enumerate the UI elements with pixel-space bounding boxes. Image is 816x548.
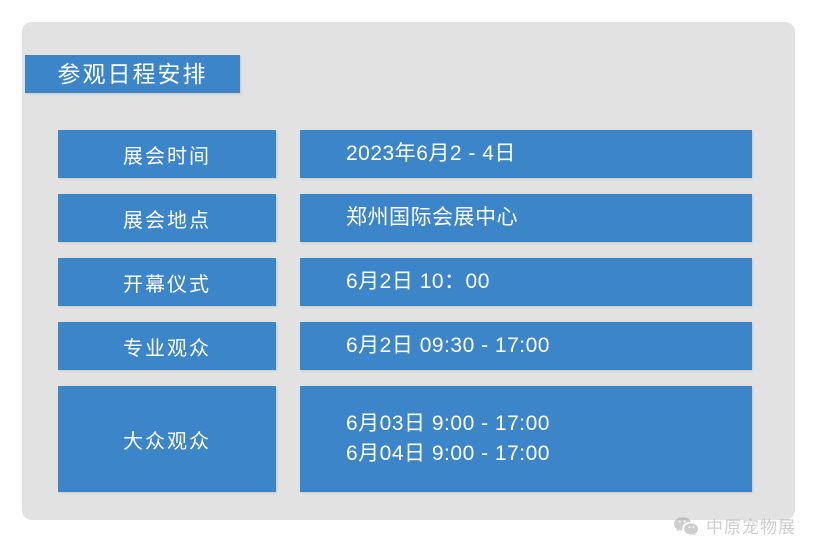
row-value-cell: 2023年6月2 - 4日	[300, 130, 752, 178]
row-value-cell: 6月2日 10：00	[300, 258, 752, 306]
row-value-cell: 6月2日 09:30 - 17:00	[300, 322, 752, 370]
table-row: 专业观众 6月2日 09:30 - 17:00	[58, 322, 752, 370]
row-value-cell: 郑州国际会展中心	[300, 194, 752, 242]
table-row: 开幕仪式 6月2日 10：00	[58, 258, 752, 306]
schedule-table: 展会时间 2023年6月2 - 4日 展会地点 郑州国际会展中心 开幕仪式 6月…	[58, 130, 752, 492]
value-line: 郑州国际会展中心	[346, 203, 518, 233]
value-lines: 郑州国际会展中心	[346, 203, 518, 233]
row-label-cell: 专业观众	[58, 322, 276, 370]
value-line: 2023年6月2 - 4日	[346, 139, 516, 169]
value-line: 6月2日 10：00	[346, 267, 490, 297]
value-line: 6月2日 09:30 - 17:00	[346, 331, 550, 361]
slide-canvas: 参观日程安排 展会时间 2023年6月2 - 4日 展会地点 郑州国际会展中心 …	[0, 0, 816, 548]
row-label-cell: 展会时间	[58, 130, 276, 178]
footer-watermark: 中原宠物展	[673, 513, 796, 538]
value-lines: 6月2日 10：00	[346, 267, 490, 297]
table-row: 大众观众 6月03日 9:00 - 17:00 6月04日 9:00 - 17:…	[58, 386, 752, 492]
value-line: 6月03日 9:00 - 17:00	[346, 409, 550, 439]
page-title: 参观日程安排	[25, 55, 240, 93]
row-label-cell: 展会地点	[58, 194, 276, 242]
wechat-icon	[673, 516, 699, 536]
value-lines: 6月2日 09:30 - 17:00	[346, 331, 550, 361]
watermark-text: 中原宠物展	[706, 513, 796, 538]
row-label-cell: 大众观众	[58, 386, 276, 492]
row-label-cell: 开幕仪式	[58, 258, 276, 306]
row-value-cell: 6月03日 9:00 - 17:00 6月04日 9:00 - 17:00	[300, 386, 752, 492]
value-line: 6月04日 9:00 - 17:00	[346, 439, 550, 469]
table-row: 展会时间 2023年6月2 - 4日	[58, 130, 752, 178]
table-row: 展会地点 郑州国际会展中心	[58, 194, 752, 242]
page-title-text: 参观日程安排	[58, 63, 208, 86]
value-lines: 2023年6月2 - 4日	[346, 139, 516, 169]
value-lines: 6月03日 9:00 - 17:00 6月04日 9:00 - 17:00	[346, 409, 550, 470]
